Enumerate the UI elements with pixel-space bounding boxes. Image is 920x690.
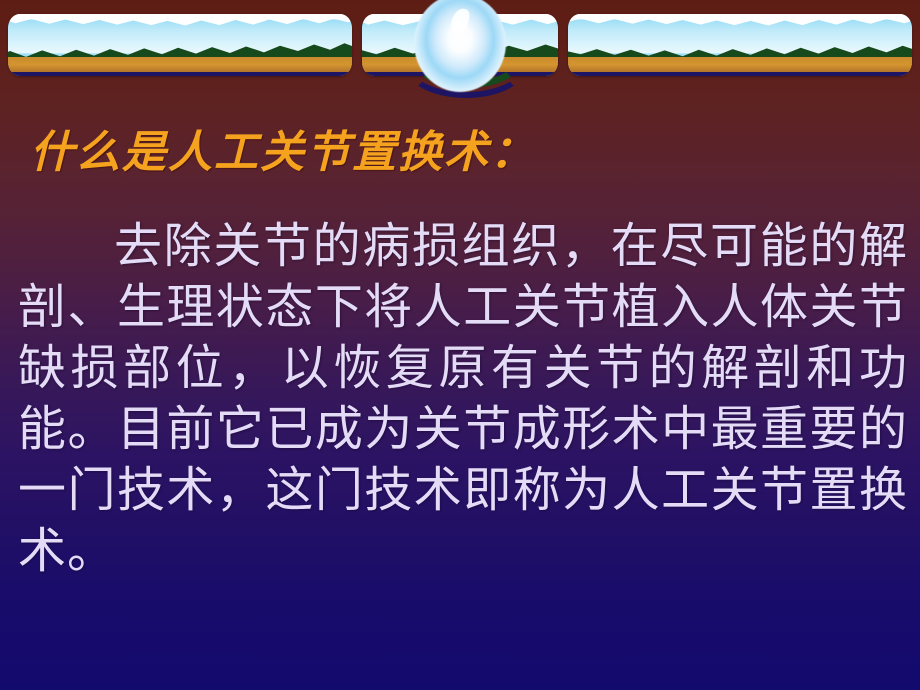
cloud-shape-left <box>8 14 352 32</box>
slide-body-paragraph: 去除关节的病损组织，在尽可能的解剖、生理状态下将人工关节植入人体关节缺损部位，以… <box>18 216 908 582</box>
presentation-slide: 什么是人工关节置换术： 去除关节的病损组织，在尽可能的解剖、生理状态下将人工关节… <box>0 0 920 690</box>
landscape-panel-right <box>568 14 912 76</box>
slide-title: 什么是人工关节置换术： <box>30 116 536 180</box>
landscape-ornament-banner <box>0 0 920 92</box>
cloud-shape-right <box>568 14 912 32</box>
earth-band-left <box>8 57 352 76</box>
landscape-panel-left <box>8 14 352 76</box>
earth-band-right <box>568 57 912 76</box>
